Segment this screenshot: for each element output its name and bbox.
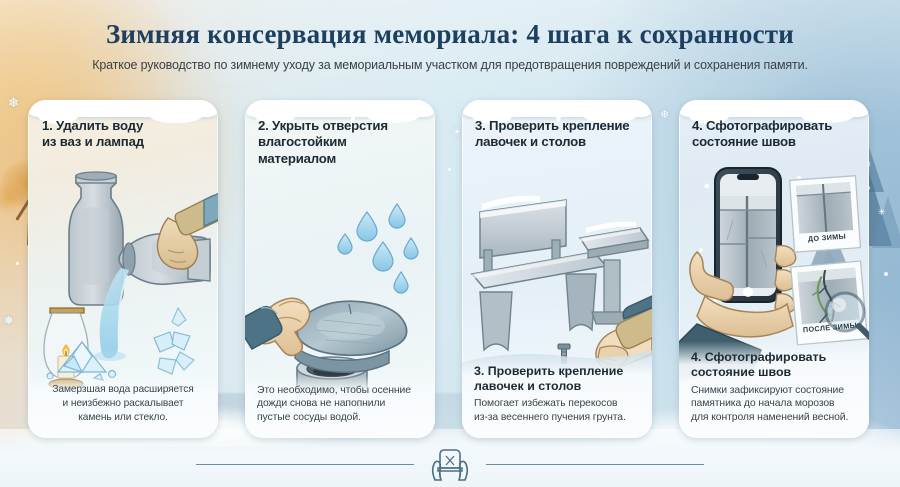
step-2-heading: 2. Укрыть отверстия влагостойким материа… xyxy=(245,100,435,167)
step-4-heading: 4. Сфотографировать состояние швов xyxy=(679,100,869,151)
footer-divider-left xyxy=(196,464,414,465)
step-2-footer: Это необходимо, чтобы осенние дожди снов… xyxy=(245,375,435,438)
hand-placing-cover xyxy=(245,298,310,355)
step-4-footer-title: 4. Сфотографировать состояние швов xyxy=(691,350,857,380)
step-card-2[interactable]: 2. Укрыть отверстия влагостойким материа… xyxy=(245,100,435,438)
step-card-4[interactable]: ДО ЗИМЫ ПОСЛЕ ЗИМЫ 4. Сфотографировать с… xyxy=(679,100,869,438)
step-1-footer: Замерзшая вода расширяется и неизбежно р… xyxy=(28,374,218,438)
step-3-footer: 3. Проверить крепление лавочек и столов … xyxy=(462,355,652,438)
footer-logo xyxy=(428,447,472,481)
step-2-description: Это необходимо, чтобы осенние дожди снов… xyxy=(257,384,423,425)
memorial-in-hands-logo xyxy=(428,447,472,481)
steps-container: 1. Удалить воду из ваз и лампад Замерзша… xyxy=(28,100,874,440)
step-4-footer: 4. Сфотографировать состояние швов Снимк… xyxy=(679,341,869,438)
snowflake-icon: ❄ xyxy=(8,96,19,109)
page-subtitle: Краткое руководство по зимнему уходу за … xyxy=(0,58,900,72)
snowflake-icon: ✳ xyxy=(878,208,886,217)
step-1-heading: 1. Удалить воду из ваз и лампад xyxy=(28,100,218,151)
granite-bench xyxy=(472,196,606,350)
ice-shards xyxy=(154,308,194,374)
gloved-hand-pouring-vase xyxy=(119,190,218,284)
step-3-description: Помогает избежать перекосов из-за весенн… xyxy=(474,397,640,425)
infographic-poster: ❄ ❅ ✳ ❄ ❄ ❅ ✳ ❄ Зимняя консервация мемор… xyxy=(0,0,900,487)
poster-header: Зимняя консервация мемориала: 4 шага к с… xyxy=(0,0,900,72)
snow-dot xyxy=(16,262,19,265)
snowflake-icon: ❅ xyxy=(4,316,13,327)
step-3-footer-title: 3. Проверить крепление лавочек и столов xyxy=(474,364,640,394)
stone-cover-lid xyxy=(295,301,407,372)
step-4-description: Снимки зафиксируют состояние памятника д… xyxy=(691,384,857,425)
fir-tree-icon xyxy=(872,196,900,248)
snow-dot xyxy=(884,272,888,276)
step-1-description: Замерзшая вода расширяется и неизбежно р… xyxy=(40,383,206,425)
rain-drops xyxy=(338,204,418,293)
step-3-heading: 3. Проверить крепление лавочек и столов xyxy=(462,100,652,151)
step-card-1[interactable]: 1. Удалить воду из ваз и лампад Замерзша… xyxy=(28,100,218,438)
smartphone-camera-view xyxy=(720,196,776,288)
footer-divider-right xyxy=(486,464,704,465)
page-title: Зимняя консервация мемориала: 4 шага к с… xyxy=(0,20,900,50)
step-card-3[interactable]: 3. Проверить крепление лавочек и столов … xyxy=(462,100,652,438)
poster-footer xyxy=(0,447,900,481)
